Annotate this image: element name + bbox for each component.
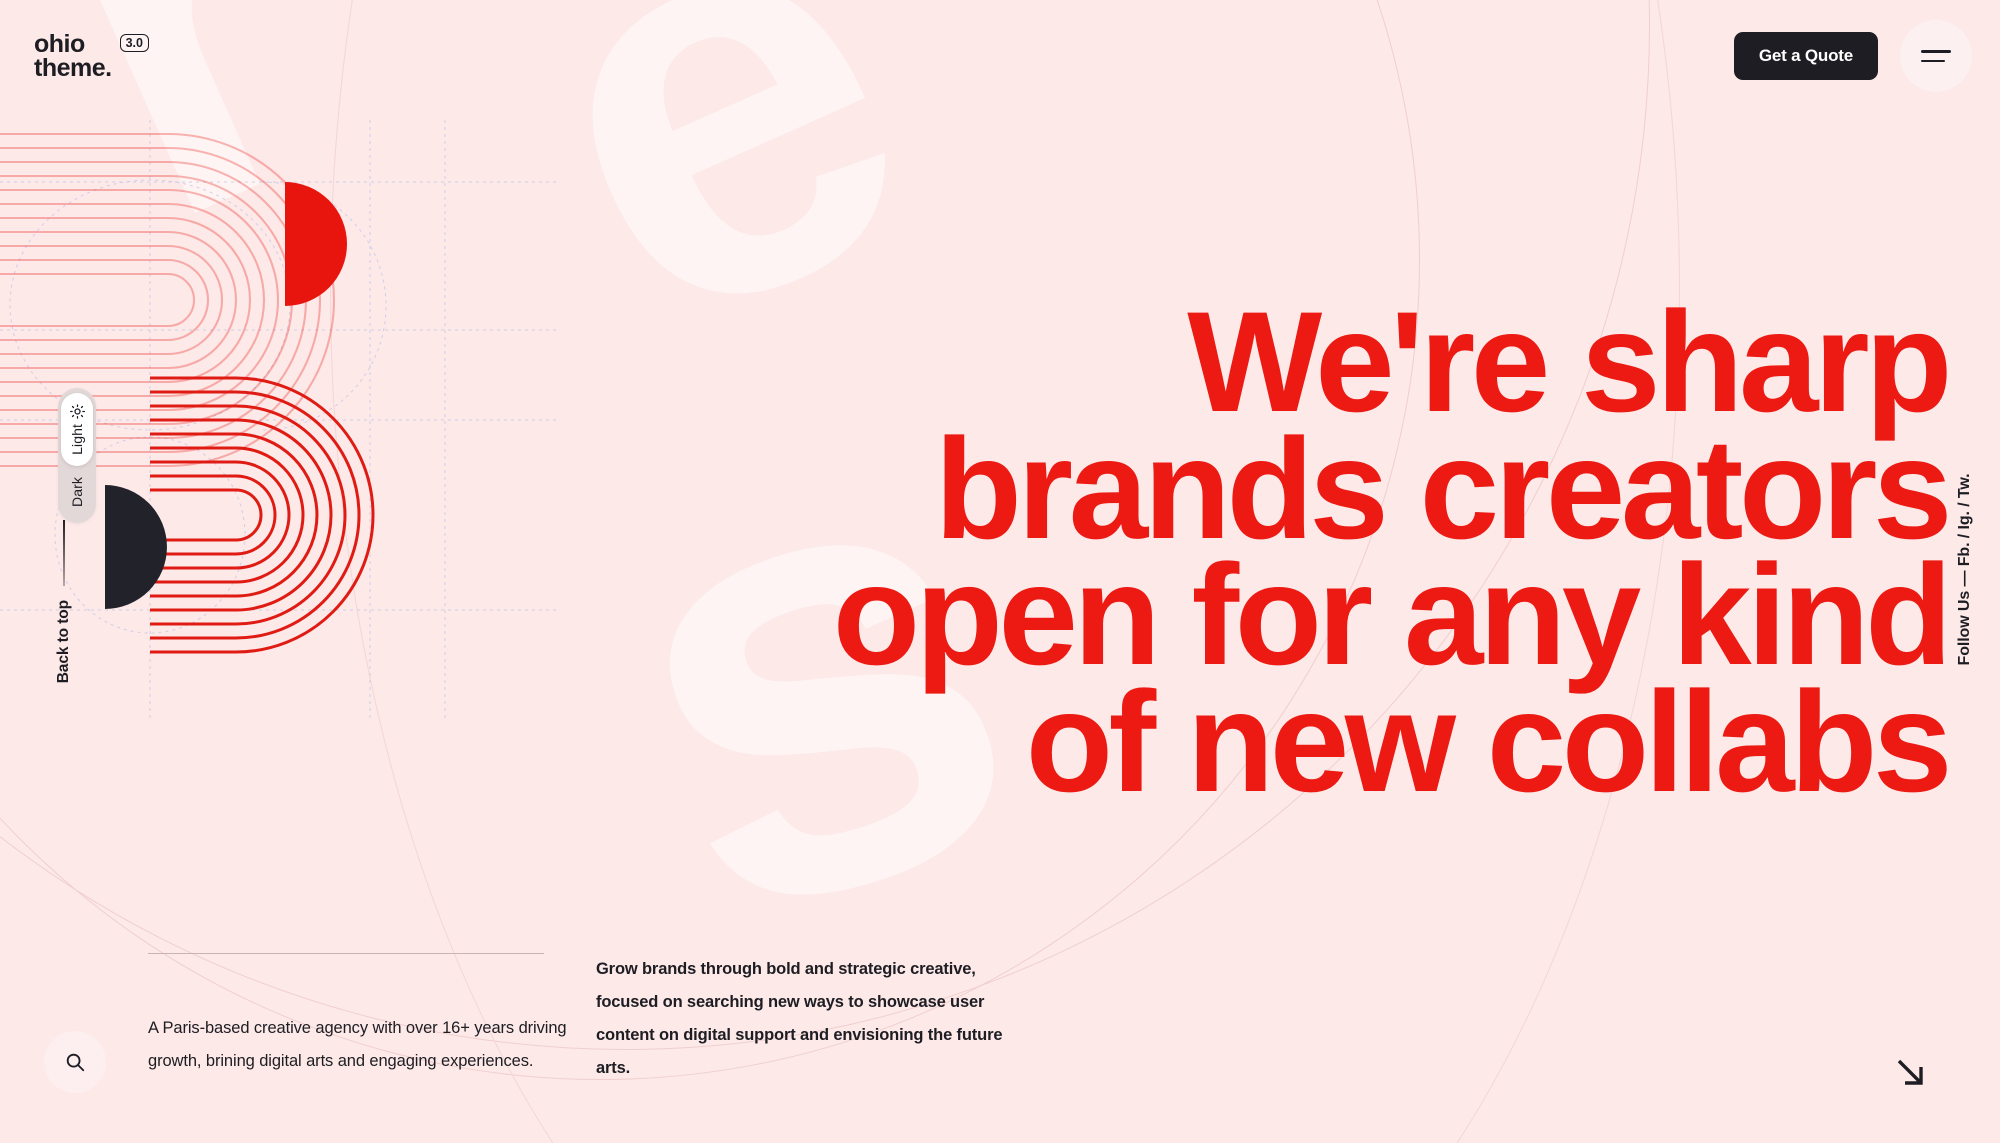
- theme-dark-label: Dark: [69, 477, 85, 507]
- theme-option-dark[interactable]: Dark: [61, 466, 93, 518]
- logo-text: ohio theme.: [34, 32, 112, 80]
- back-to-top-button[interactable]: Back to top: [55, 520, 73, 683]
- site-header: ohio theme. 3.0 Get a Quote: [0, 0, 2000, 112]
- copy-column-left: A Paris-based creative agency with over …: [148, 953, 578, 1085]
- divider-rule: [148, 953, 544, 954]
- hero-headline: We're sharp brands creators open for any…: [833, 300, 1948, 806]
- arrow-down-right-icon: [1894, 1056, 1928, 1090]
- search-icon: [64, 1051, 86, 1073]
- scroll-down-button[interactable]: [1894, 1056, 1928, 1095]
- services-description: Grow brands through bold and strategic c…: [596, 953, 1016, 1085]
- page-stage: r e s: [0, 0, 2000, 1143]
- copy-column-right: Grow brands through bold and strategic c…: [596, 953, 1016, 1085]
- version-badge: 3.0: [120, 34, 149, 52]
- search-button[interactable]: [44, 1031, 106, 1093]
- sun-icon: [70, 404, 85, 419]
- follow-us-label: Follow Us — Fb. / Ig. / Tw.: [1956, 473, 1974, 665]
- agency-description: A Paris-based creative agency with over …: [148, 1012, 578, 1078]
- logo[interactable]: ohio theme. 3.0: [34, 32, 149, 80]
- back-to-top-line: [63, 520, 65, 586]
- back-to-top-label: Back to top: [55, 600, 73, 683]
- header-actions: Get a Quote: [1734, 20, 1972, 92]
- theme-toggle[interactable]: Light Dark: [58, 388, 96, 523]
- hamburger-menu-icon[interactable]: [1900, 20, 1972, 92]
- get-a-quote-button[interactable]: Get a Quote: [1734, 32, 1878, 80]
- hamburger-line-top: [1921, 50, 1951, 53]
- theme-option-light[interactable]: Light: [61, 393, 93, 466]
- hero-copy: A Paris-based creative agency with over …: [0, 953, 1016, 1085]
- follow-us-links[interactable]: Follow Us — Fb. / Ig. / Tw.: [1956, 473, 1974, 670]
- theme-light-label: Light: [69, 424, 85, 455]
- hamburger-line-bottom: [1921, 60, 1945, 63]
